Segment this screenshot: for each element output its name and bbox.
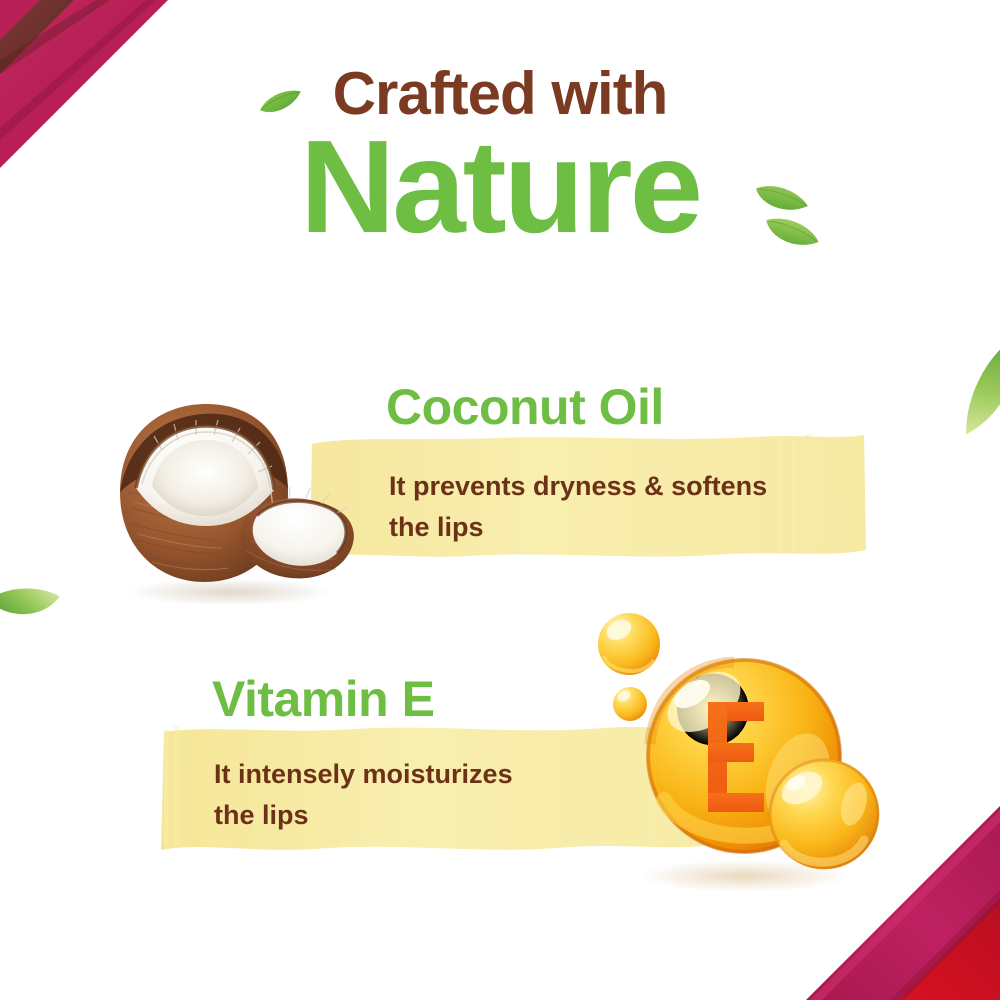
ingredient-description-vitamin: It intensely moisturizes the lips: [214, 754, 634, 836]
headline-block: Crafted with Nature: [0, 62, 1000, 252]
ingredient-description-coconut: It prevents dryness & softens the lips: [389, 466, 859, 548]
poster-canvas: Crafted with Nature: [0, 0, 1000, 1000]
headline-line-2: Nature: [0, 122, 1000, 252]
ingredient-title-vitamin: Vitamin E: [212, 672, 434, 726]
ingredient-title-coconut: Coconut Oil: [386, 380, 664, 434]
